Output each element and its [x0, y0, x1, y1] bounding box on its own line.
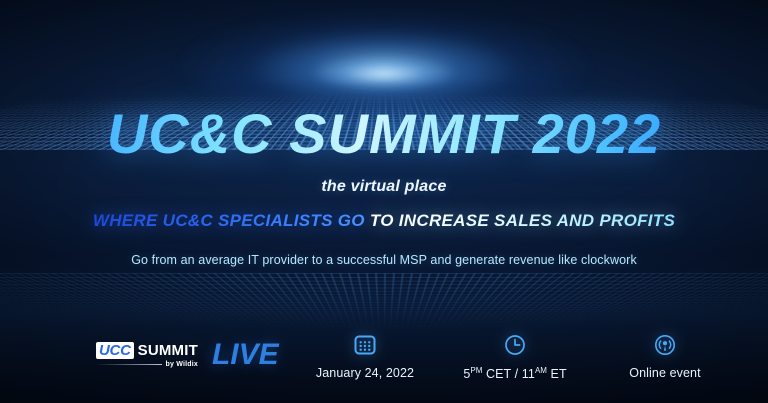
time-et-value: 11 — [522, 367, 535, 381]
event-time-item: 5PM CET / 11AM ET — [440, 333, 590, 381]
time-et-suffix: AM — [535, 366, 547, 375]
event-banner: UC&C SUMMIT 2022 the virtual place WHERE… — [0, 0, 768, 403]
brand-divider-rule — [96, 364, 162, 365]
time-et-zone: ET — [547, 367, 567, 381]
event-format-item: Online event — [590, 333, 740, 381]
tagline-secondary: TO INCREASE SALES AND PROFITS — [370, 211, 675, 230]
event-tagline: WHERE UC&C SPECIALISTS GO TO INCREASE SA… — [93, 211, 675, 231]
event-date-label: January 24, 2022 — [316, 366, 414, 380]
ucc-summit-live-logo: UCC SUMMIT by Wildix LIVE — [96, 338, 279, 372]
ucc-summit-lockup: UCC SUMMIT by Wildix — [96, 342, 198, 368]
event-subtitle: the virtual place — [321, 178, 446, 196]
event-date-item: January 24, 2022 — [290, 333, 440, 381]
tagline-primary: WHERE UC&C SPECIALISTS GO — [93, 211, 365, 230]
calendar-icon — [353, 333, 377, 357]
time-cet-zone: CET / — [482, 367, 521, 381]
brand-byline-row: by Wildix — [96, 361, 198, 368]
brand-byline: by Wildix — [166, 361, 198, 368]
event-description: Go from an average IT provider to a succ… — [131, 253, 637, 267]
event-details-group: January 24, 2022 5PM CET / 11AM ET — [279, 333, 740, 381]
brand-wordmark-row: UCC SUMMIT — [96, 342, 198, 359]
banner-footer: UCC SUMMIT by Wildix LIVE — [0, 319, 768, 381]
event-format-label: Online event — [629, 366, 700, 380]
ucc-badge-label: UCC — [99, 343, 131, 358]
event-title: UC&C SUMMIT 2022 — [107, 106, 661, 162]
broadcast-icon — [653, 333, 677, 357]
summit-wordmark: SUMMIT — [138, 342, 198, 359]
event-time-label: 5PM CET / 11AM ET — [463, 366, 566, 381]
time-cet-suffix: PM — [470, 366, 482, 375]
live-wordmark: LIVE — [212, 338, 279, 372]
clock-icon — [503, 333, 527, 357]
ucc-badge: UCC — [96, 342, 134, 359]
